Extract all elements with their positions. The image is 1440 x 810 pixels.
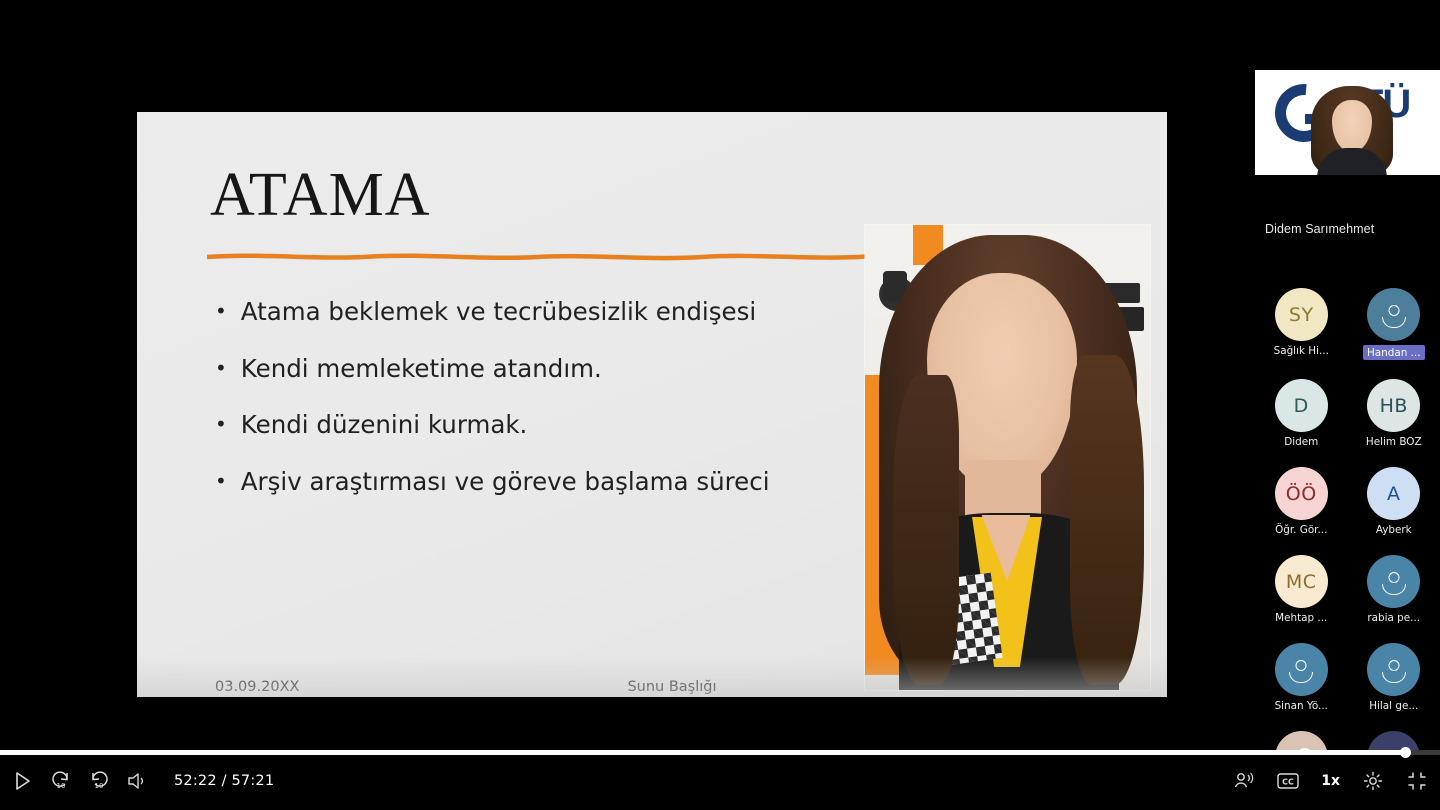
slide-photo: OKSIJENE YAKLA: [865, 225, 1150, 690]
list-item: • Kendi düzenini kurmak.: [215, 410, 835, 441]
person-icon: [1382, 660, 1406, 680]
bullet-text: Arşiv araştırması ve göreve başlama süre…: [241, 467, 770, 498]
participant-tile[interactable]: A Ayberk: [1352, 467, 1436, 536]
participant-name: Helim BOZ: [1366, 436, 1422, 448]
person-icon: [1382, 572, 1406, 592]
bullet-marker-icon: •: [215, 354, 227, 382]
participant-name: Ayberk: [1376, 524, 1412, 536]
list-item: • Kendi memleketime atandım.: [215, 354, 835, 385]
participant-grid: SY Sağlık Hi... Handan ... D Didem HB: [1255, 288, 1440, 810]
svg-text:10: 10: [57, 782, 66, 790]
participant-tile[interactable]: Hilal ge...: [1352, 643, 1436, 712]
participant-tile[interactable]: SY Sağlık Hi...: [1259, 288, 1343, 360]
avatar: HB: [1367, 379, 1420, 432]
bullet-text: Atama beklemek ve tecrübesizlik endişesi: [241, 297, 756, 328]
bullet-text: Kendi memleketime atandım.: [241, 354, 602, 385]
player-left-controls: 10 10 52:22 / 57:21: [12, 770, 274, 792]
avatar: SY: [1275, 288, 1328, 341]
presentation-slide: ATAMA • Atama beklemek ve tecrübesizlik …: [137, 112, 1167, 697]
participant-tile[interactable]: Handan ...: [1352, 288, 1436, 360]
avatar: A: [1367, 467, 1420, 520]
participant-name: Mehtap ...: [1275, 612, 1327, 624]
title-underline-squiggle: [207, 252, 867, 261]
svg-text:10: 10: [95, 782, 104, 790]
active-speaker-label: Didem Sarımehmet: [1265, 222, 1374, 236]
bullet-text: Kendi düzenini kurmak.: [241, 410, 528, 441]
bullet-marker-icon: •: [215, 467, 227, 495]
participant-name: Öğr. Gör...: [1275, 524, 1327, 536]
playback-speed-label[interactable]: 1x: [1321, 773, 1340, 789]
speaker-view-icon[interactable]: [1233, 770, 1255, 792]
participant-tile[interactable]: MC Mehtap ...: [1259, 555, 1343, 624]
participant-name: Sağlık Hi...: [1274, 345, 1329, 357]
play-icon[interactable]: [12, 770, 34, 792]
forward-10-icon[interactable]: 10: [88, 770, 110, 792]
person-icon: [1382, 305, 1406, 325]
slide-bullet-list: • Atama beklemek ve tecrübesizlik endişe…: [215, 297, 835, 524]
self-video-tile[interactable]: KTÜ KARADENIZTEKNIK ÜNIVERSITESI: [1255, 70, 1440, 175]
bullet-marker-icon: •: [215, 410, 227, 438]
participant-name: Didem: [1284, 436, 1318, 448]
recorded-meeting-player: ATAMA • Atama beklemek ve tecrübesizlik …: [0, 0, 1440, 810]
player-right-controls: CC 1x: [1233, 770, 1428, 792]
slide-footer-subtitle: Sunu Başlığı: [137, 679, 1167, 695]
avatar: [1275, 643, 1328, 696]
person-icon: [1289, 660, 1313, 680]
svg-text:CC: CC: [1282, 778, 1294, 787]
progress-bar[interactable]: [0, 750, 1440, 755]
list-item: • Arşiv araştırması ve göreve başlama sü…: [215, 467, 835, 498]
photo-subject-hair-left: [893, 375, 959, 685]
participant-tile[interactable]: D Didem: [1259, 379, 1343, 448]
avatar: [1367, 288, 1420, 341]
participant-tile[interactable]: ÖÖ Öğr. Gör...: [1259, 467, 1343, 536]
list-item: • Atama beklemek ve tecrübesizlik endişe…: [215, 297, 835, 328]
closed-captions-icon[interactable]: CC: [1277, 770, 1299, 792]
participant-row: Sinan Yö... Hilal ge...: [1255, 643, 1440, 712]
participant-row: ÖÖ Öğr. Gör... A Ayberk: [1255, 467, 1440, 536]
bullet-marker-icon: •: [215, 297, 227, 325]
participant-name: Sinan Yö...: [1275, 700, 1328, 712]
self-video-person: [1311, 86, 1393, 175]
rewind-10-icon[interactable]: 10: [50, 770, 72, 792]
participant-name: Hilal ge...: [1369, 700, 1418, 712]
participant-tile[interactable]: HB Helim BOZ: [1352, 379, 1436, 448]
shared-screen-stage: ATAMA • Atama beklemek ve tecrübesizlik …: [0, 0, 1255, 750]
exit-fullscreen-icon[interactable]: [1406, 770, 1428, 792]
participant-name: Handan ...: [1363, 345, 1425, 360]
gear-icon[interactable]: [1362, 770, 1384, 792]
volume-icon[interactable]: [126, 770, 148, 792]
participants-panel: KTÜ KARADENIZTEKNIK ÜNIVERSITESI Didem S…: [1255, 0, 1440, 810]
participant-tile[interactable]: rabia pe...: [1352, 555, 1436, 624]
participant-row: MC Mehtap ... rabia pe...: [1255, 555, 1440, 624]
progress-played: [0, 750, 1407, 755]
participant-row: SY Sağlık Hi... Handan ...: [1255, 288, 1440, 360]
avatar: [1367, 555, 1420, 608]
avatar: D: [1275, 379, 1328, 432]
timecode-label: 52:22 / 57:21: [174, 773, 274, 789]
slide-title: ATAMA: [210, 164, 431, 226]
progress-handle[interactable]: [1400, 747, 1411, 758]
participant-tile[interactable]: Sinan Yö...: [1259, 643, 1343, 712]
avatar: ÖÖ: [1275, 467, 1328, 520]
avatar: [1367, 643, 1420, 696]
avatar: MC: [1275, 555, 1328, 608]
participant-row: D Didem HB Helim BOZ: [1255, 379, 1440, 448]
photo-subject-hair-right: [1070, 355, 1144, 685]
player-control-bar: 10 10 52:22 / 57:21: [0, 750, 1440, 810]
participant-name: rabia pe...: [1367, 612, 1420, 624]
